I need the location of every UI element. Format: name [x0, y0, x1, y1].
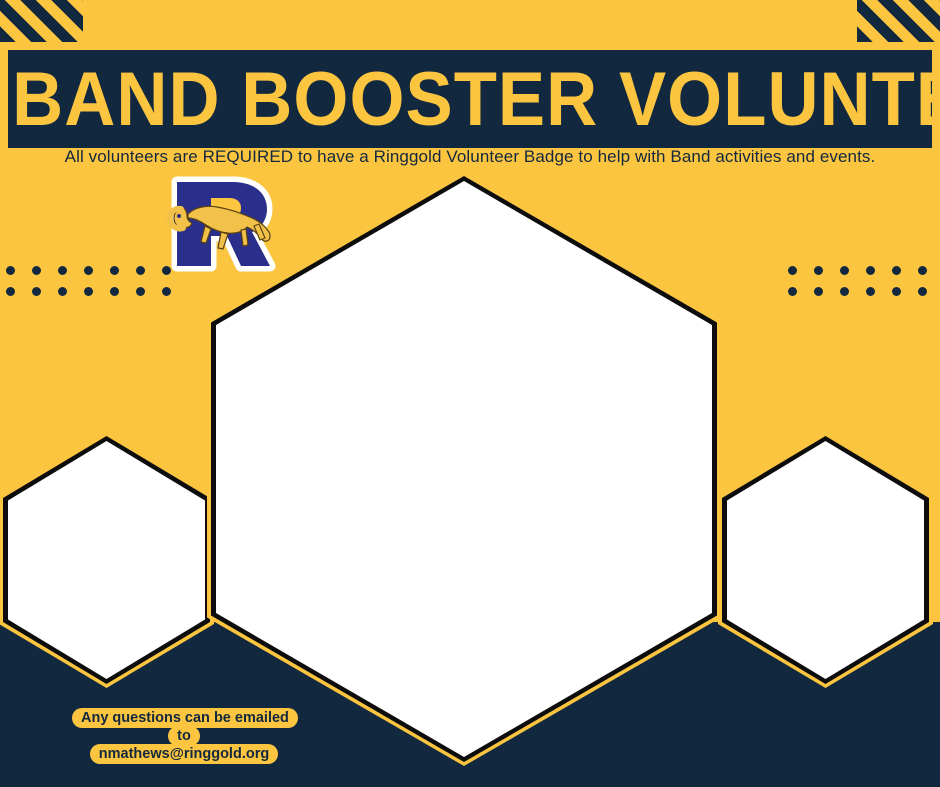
dot [136, 287, 145, 296]
dot [840, 266, 849, 275]
dot [814, 287, 823, 296]
dot [136, 266, 145, 275]
dot [918, 266, 927, 275]
dot [788, 287, 797, 296]
hexagon-left-fill [8, 441, 205, 679]
dot [866, 287, 875, 296]
dot [58, 266, 67, 275]
dot [866, 266, 875, 275]
dot [892, 287, 901, 296]
dot [162, 266, 171, 275]
dot [84, 266, 93, 275]
dot [162, 287, 171, 296]
dot [814, 266, 823, 275]
dot [84, 287, 93, 296]
dot-grid-left [6, 266, 188, 308]
volunteer-poster: RAM BAND BOOSTER VOLUNTEERS All voluntee… [0, 0, 940, 787]
dot [110, 287, 119, 296]
ringgold-ram-logo-icon [155, 176, 288, 272]
dot [788, 266, 797, 275]
diagonal-stripes-right-icon [857, 0, 940, 42]
dot [32, 287, 41, 296]
dot [32, 266, 41, 275]
dot [6, 287, 15, 296]
dot [840, 287, 849, 296]
hexagon-right-fill [727, 441, 924, 679]
subtitle-text: All volunteers are REQUIRED to have a Ri… [0, 147, 940, 167]
diagonal-stripes-left-icon [0, 0, 83, 42]
dot [918, 287, 927, 296]
dot-grid-right [771, 266, 940, 308]
title-bar: RAM BAND BOOSTER VOLUNTEERS [8, 50, 932, 148]
email-callout: Any questions can be emailed to nmathews… [72, 709, 296, 763]
page-title: RAM BAND BOOSTER VOLUNTEERS [0, 61, 940, 137]
dot [6, 266, 15, 275]
dot [58, 287, 67, 296]
dot [110, 266, 119, 275]
email-callout-line-1: Any questions can be emailed to [72, 708, 298, 746]
dot [892, 266, 901, 275]
email-callout-line-2[interactable]: nmathews@ringgold.org [90, 744, 278, 764]
